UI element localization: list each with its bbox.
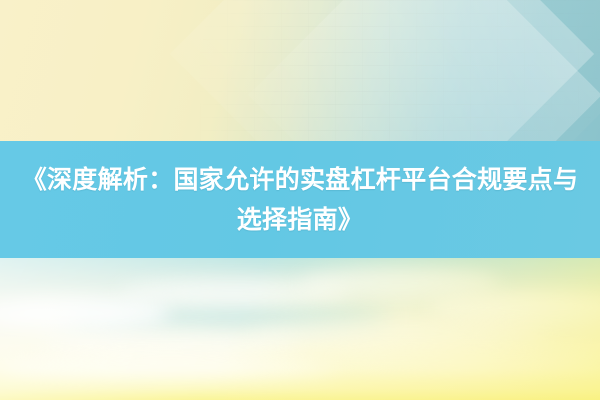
title-banner: 《深度解析：国家允许的实盘杠杆平台合规要点与选择指南》 bbox=[0, 141, 600, 258]
sky-gradient-section bbox=[0, 258, 600, 400]
sky-warm-overlay bbox=[0, 258, 600, 400]
article-cover-banner: 《深度解析：国家允许的实盘杠杆平台合规要点与选择指南》 bbox=[0, 0, 600, 400]
top-gradient-section bbox=[0, 0, 600, 141]
banner-title: 《深度解析：国家允许的实盘杠杆平台合规要点与选择指南》 bbox=[16, 160, 584, 240]
